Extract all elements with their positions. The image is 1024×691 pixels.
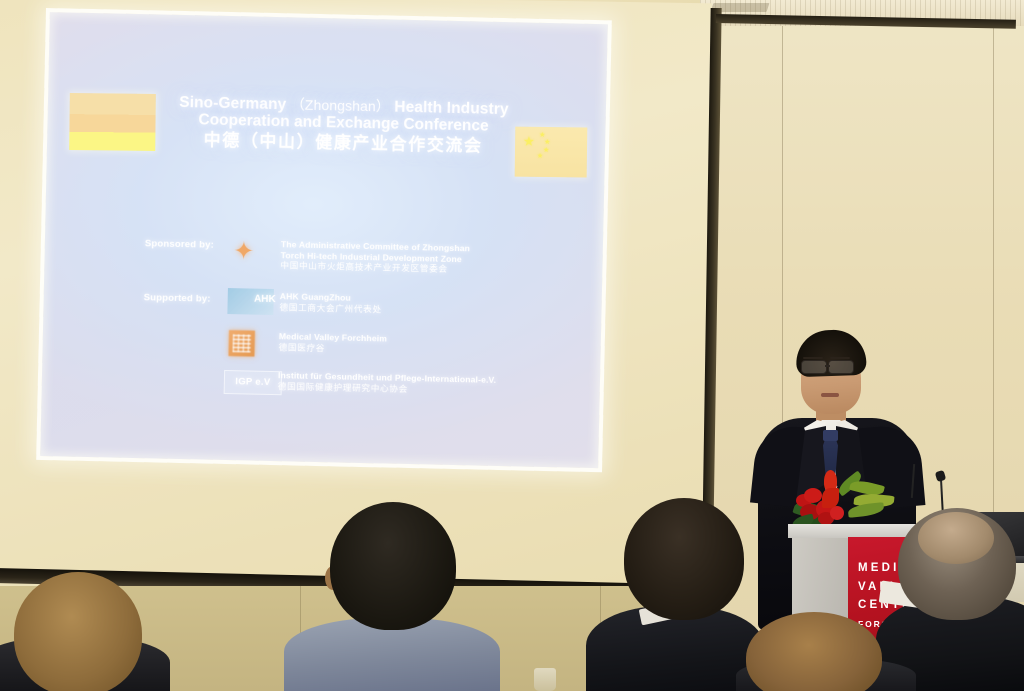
german-flag-icon: [69, 93, 156, 151]
igp-logo: IGP e.V: [224, 370, 283, 395]
conference-photo-scene: ★ ★ ★ ★ ★ Sino-Germany （Zhongshan） Healt…: [0, 0, 1024, 691]
audience-member-blonde-left: [14, 572, 142, 691]
ahk-logo: AHK: [227, 288, 274, 315]
medical-valley-logo-pattern: [233, 334, 251, 352]
speaker-tie-knot: [823, 430, 838, 441]
sponsored-by-label: Sponsored by:: [145, 238, 214, 251]
medical-valley-logo: [228, 330, 255, 357]
supported-by-label: Supported by:: [144, 292, 211, 304]
title-paren: （Zhongshan）: [291, 96, 390, 114]
speaker-eyebrow-right: [830, 357, 850, 359]
anthurium-spathe: [822, 488, 839, 508]
speaker-glasses-lens-left: [801, 360, 827, 374]
water-glass: [534, 668, 556, 691]
zhongshan-torch-icon: ✦: [230, 236, 257, 267]
flower-petal: [830, 506, 844, 520]
audience-member-gray-suit: [330, 502, 456, 630]
audience-member-dark-suit-center: [624, 498, 744, 620]
speaker-eyebrow-left: [803, 357, 823, 359]
projected-slide: ★ ★ ★ ★ ★ Sino-Germany （Zhongshan） Healt…: [36, 8, 612, 472]
sponsor-entry-torch: The Administrative Committee of Zhongsha…: [280, 239, 551, 278]
speaker-mouth: [821, 393, 839, 397]
ahk-logo-text: AHK: [254, 294, 276, 305]
leaf: [847, 502, 884, 518]
speaker-glasses-lens-right: [828, 360, 854, 374]
flower-arrangement: [792, 466, 902, 528]
audience-scalp: [918, 512, 994, 564]
speaker-glasses-bridge: [825, 365, 830, 367]
slide-title: Sino-Germany （Zhongshan） Health Industry…: [153, 94, 534, 155]
title-part-a: Sino-Germany: [179, 94, 287, 113]
